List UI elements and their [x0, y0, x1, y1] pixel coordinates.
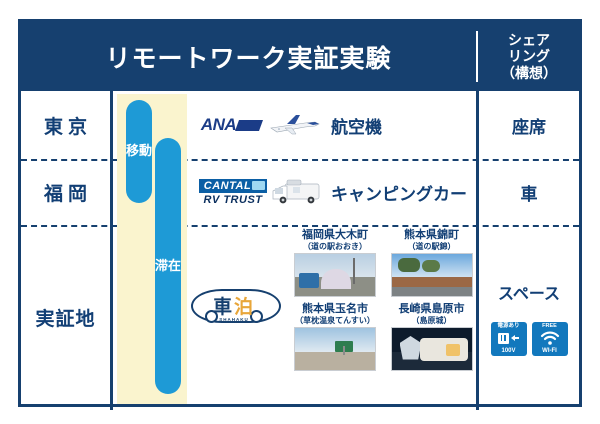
cantal-logo-top-text: CANTAL [204, 180, 251, 192]
infographic-board: リモートワーク実証実験 シェア リング （構想） 東京 福岡 実証地 移動 滞在 [18, 19, 582, 407]
attribute-space: スペース 電源あり 100V FREE [479, 225, 579, 410]
shahaku-logo: 車泊 SHAHAKU [191, 285, 277, 325]
shahaku-kanji-1: 車 [213, 297, 234, 318]
site-subtitle: （草枕温泉てんすい） [291, 316, 379, 326]
site-name: 熊本県玉名市 [291, 303, 379, 316]
flow-pill-move: 移動 [126, 100, 152, 203]
attribute-label: 車 [521, 180, 538, 205]
sharing-label-line1: シェア [508, 32, 550, 49]
site-name: 熊本県錦町 [388, 229, 476, 242]
site-photo [294, 253, 376, 297]
ana-logo-text: ANA [201, 115, 236, 135]
airplane-icon [265, 112, 321, 138]
power-supply-badge: 電源あり 100V [491, 322, 527, 356]
cantal-van-icon [252, 181, 265, 190]
mode-label-camping-car: キャンピングカー [331, 180, 467, 205]
demo-site-card: 福岡県大木町 （道の駅おおき） [291, 229, 379, 297]
site-subtitle: （道の駅おおき） [291, 242, 379, 252]
site-name: 福岡県大木町 [291, 229, 379, 242]
demo-site-grid: 福岡県大木町 （道の駅おおき） 熊本県錦町 （道の駅錦） [291, 229, 476, 371]
shahaku-sub-text: SHAHAKU [191, 317, 277, 322]
cantal-rv-trust-logo: CANTAL RV TRUST [191, 177, 331, 207]
flow-pill-stay: 滞在 [155, 138, 181, 394]
attribute-car: 車 [479, 159, 579, 225]
site-photo [391, 253, 473, 297]
site-photo [294, 327, 376, 371]
power-badge-bottom-text: 100V [501, 348, 515, 354]
sharing-label-line2: リング [508, 48, 550, 65]
demo-site-card: 熊本県錦町 （道の駅錦） [388, 229, 476, 297]
attribute-label: 座席 [512, 113, 546, 138]
amenity-badges: 電源あり 100V FREE [491, 322, 568, 356]
power-plug-icon [498, 329, 520, 348]
header-divider [476, 31, 478, 82]
cantal-logo-top: CANTAL [199, 179, 267, 193]
stage-label-demo-site: 実証地 [21, 225, 110, 410]
attribute-seat: 座席 [479, 91, 579, 159]
site-subtitle: （島原城） [388, 316, 476, 326]
site-subtitle: （道の駅錦） [388, 242, 476, 252]
header-bar: リモートワーク実証実験 シェア リング （構想） [21, 22, 579, 91]
site-photo [391, 327, 473, 371]
stage-label-fukuoka: 福岡 [21, 159, 110, 225]
ana-logo: ANA [191, 112, 331, 138]
ana-logo-mark [235, 120, 263, 131]
stage-label-tokyo: 東京 [21, 91, 110, 159]
camper-van-icon [271, 177, 323, 207]
attribute-label: スペース [498, 280, 560, 304]
site-name: 長崎県島原市 [388, 303, 476, 316]
flow-pill-move-char1: 移動 [126, 143, 152, 159]
demo-site-card: 長崎県島原市 （島原城） [388, 303, 476, 371]
wifi-icon [540, 329, 560, 348]
page-title: リモートワーク実証実験 [21, 22, 476, 91]
demo-site-card: 熊本県玉名市 （草枕温泉てんすい） [291, 303, 379, 371]
sharing-label-line3: （構想） [501, 65, 557, 82]
row-demo-sites: 車泊 SHAHAKU 福岡県大木町 （道の駅おおき） [191, 225, 476, 410]
flow-pill-stay-char1: 滞在 [155, 258, 181, 274]
matrix-body: 東京 福岡 実証地 移動 滞在 ANA [21, 91, 579, 410]
mode-label-aircraft: 航空機 [331, 113, 382, 138]
shahaku-kanji: 車泊 [191, 292, 277, 319]
column-divider-left [110, 91, 113, 410]
shahaku-kanji-2: 泊 [234, 297, 255, 318]
cantal-logo-bottom: RV TRUST [204, 194, 263, 206]
header-sharing-label: シェア リング （構想） [479, 22, 579, 91]
free-wifi-badge: FREE WI-FI [532, 322, 568, 356]
row-air-transport: ANA 航空機 [191, 91, 476, 159]
wifi-badge-bottom-text: WI-FI [542, 348, 557, 354]
row-camping-car: CANTAL RV TRUST [191, 159, 476, 225]
